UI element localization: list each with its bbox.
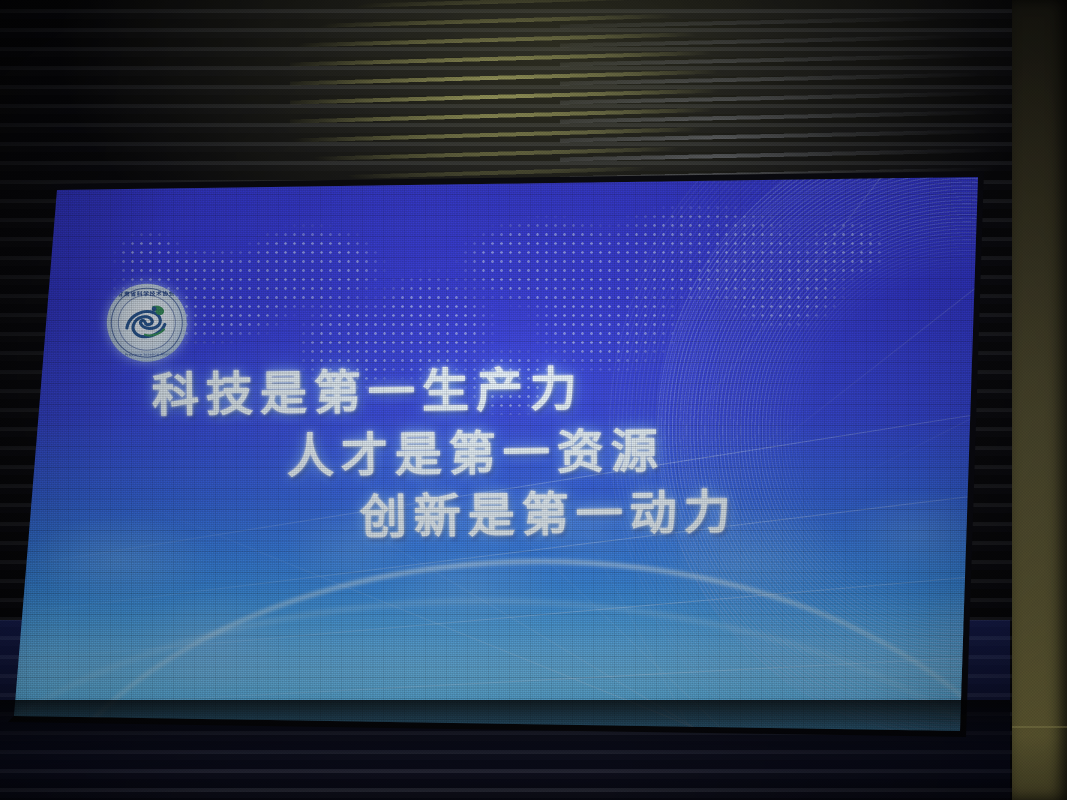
emblem-chinese-text: 甘肃省科学技术协会 <box>106 289 187 298</box>
slogan-headline: 科技是第一生产力 人才是第一资源 创新是第一动力 <box>0 353 1007 555</box>
emblem-swirl-icon <box>120 300 173 345</box>
right-wall-panel <box>1012 0 1067 800</box>
emblem-english-text: Gansu Province Science Association <box>107 352 187 357</box>
photo-scene: 甘肃省科学技术协会 Gansu Province Science Associa… <box>0 0 1067 800</box>
right-wall-seam <box>1012 726 1067 728</box>
university-emblem-logo: 甘肃省科学技术协会 Gansu Province Science Associa… <box>106 283 187 362</box>
